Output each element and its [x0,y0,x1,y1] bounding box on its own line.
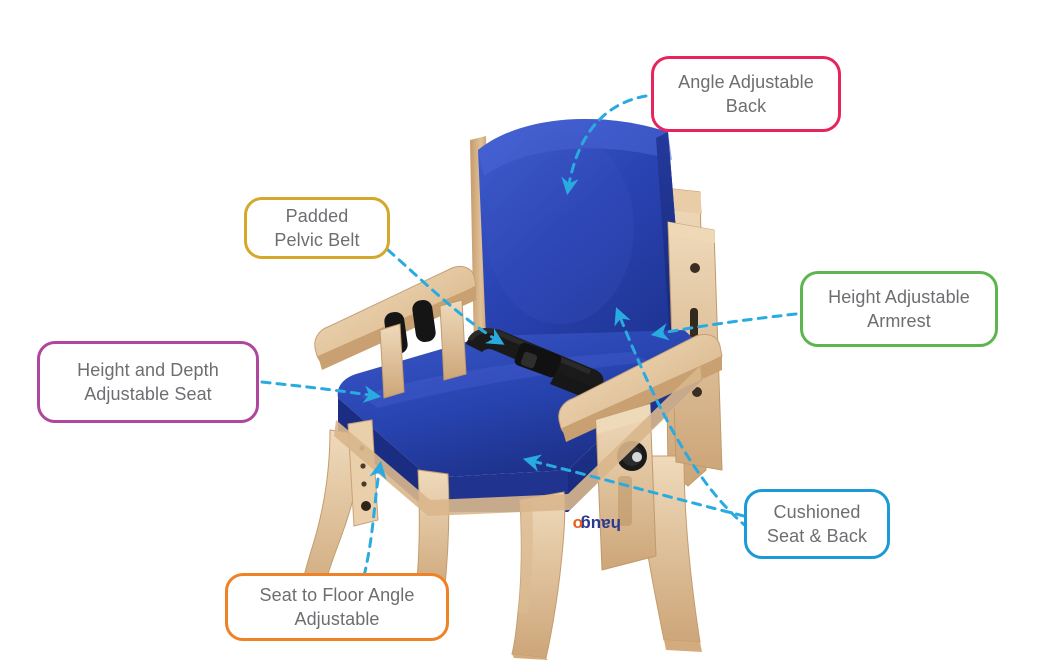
svg-text:haug: haug [580,515,621,534]
brand-logo: haug o [573,515,621,534]
callout-line-2: Adjustable Seat [77,382,219,406]
callout-angle-adjustable-back[interactable]: Angle Adjustable Back [651,56,841,132]
callout-line-2: Back [678,94,814,118]
callout-line-1: Cushioned [767,500,867,524]
callout-line-1: Height Adjustable [828,285,970,309]
callout-line-2: Seat & Back [767,524,867,548]
callout-line-2: Armrest [828,309,970,333]
callout-height-and-depth-adjustable-seat[interactable]: Height and Depth Adjustable Seat [37,341,259,423]
callout-height-adjustable-armrest[interactable]: Height Adjustable Armrest [800,271,998,347]
callout-padded-pelvic-belt[interactable]: Padded Pelvic Belt [244,197,390,259]
svg-text:o: o [573,515,583,534]
callout-seat-to-floor-angle-adjustable[interactable]: Seat to Floor Angle Adjustable [225,573,449,641]
callout-cushioned-seat-and-back[interactable]: Cushioned Seat & Back [744,489,890,559]
callout-line-1: Padded [274,204,359,228]
callout-line-2: Pelvic Belt [274,228,359,252]
callout-line-1: Seat to Floor Angle [260,583,415,607]
diagram-canvas: haug o [0,0,1045,662]
front-right-leg [512,492,565,660]
callout-line-2: Adjustable [260,607,415,631]
callout-line-1: Angle Adjustable [678,70,814,94]
callout-line-1: Height and Depth [77,358,219,382]
left-armrest [315,266,476,398]
